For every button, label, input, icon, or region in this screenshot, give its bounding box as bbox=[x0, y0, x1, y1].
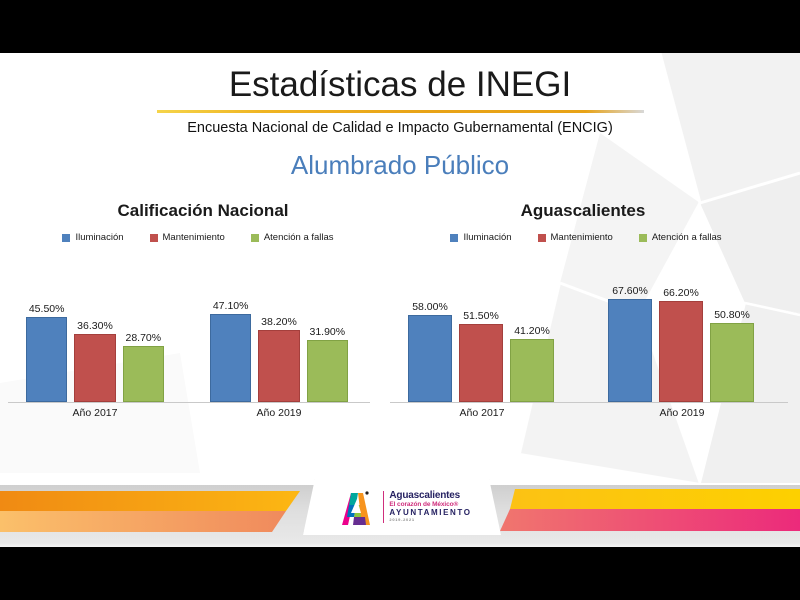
category-label-holder: Año 2019 bbox=[608, 403, 756, 417]
bar-iluminacion[interactable]: 58.00% bbox=[408, 315, 452, 402]
legend-swatch-icon bbox=[450, 234, 458, 242]
bar-value-label: 50.80% bbox=[714, 309, 750, 321]
legend-label: Mantenimiento bbox=[163, 232, 225, 243]
bar-value-label: 67.60% bbox=[612, 285, 648, 297]
bar-atencion-a-fallas[interactable]: 28.70% bbox=[123, 346, 164, 402]
bar-iluminacion[interactable]: 47.10% bbox=[210, 314, 251, 402]
bar-mantenimiento[interactable]: 66.20% bbox=[659, 301, 703, 402]
category-label: Año 2017 bbox=[408, 407, 556, 419]
category-label-holder: Año 2017 bbox=[408, 403, 556, 417]
aguascalientes-a-logo-icon bbox=[332, 487, 376, 527]
legend-item-iluminacion: Iluminación bbox=[450, 232, 511, 243]
section-heading: Alumbrado Público bbox=[0, 150, 800, 181]
bar-group: 47.10% 38.20% 31.90% bbox=[210, 292, 348, 402]
bar-value-label: 47.10% bbox=[213, 300, 249, 312]
letterbox-bottom bbox=[0, 547, 800, 600]
category-label: Año 2019 bbox=[608, 407, 756, 419]
slide-footer: Aguascalientes El corazón de México® AYU… bbox=[0, 485, 800, 547]
bar-atencion-a-fallas[interactable]: 31.90% bbox=[307, 340, 348, 402]
slide-viewer: Estadísticas de INEGI Encuesta Nacional … bbox=[0, 0, 800, 600]
footer-hairline bbox=[0, 543, 800, 547]
bar-group: 45.50% 36.30% 28.70% bbox=[26, 298, 164, 402]
bar-iluminacion[interactable]: 45.50% bbox=[26, 317, 67, 402]
legend-label: Mantenimiento bbox=[551, 232, 613, 243]
bar-value-label: 41.20% bbox=[514, 325, 550, 337]
legend-swatch-icon bbox=[62, 234, 70, 242]
legend-swatch-icon bbox=[150, 234, 158, 242]
category-label: Año 2017 bbox=[26, 407, 164, 419]
legend-label: Atención a fallas bbox=[264, 232, 334, 243]
chart-aguascalientes: Aguascalientes Iluminación Mantenimiento… bbox=[380, 201, 800, 431]
category-label: Año 2019 bbox=[210, 407, 348, 419]
chart-legend: Iluminación Mantenimiento Atención a fal… bbox=[372, 232, 800, 243]
bar-value-label: 31.90% bbox=[310, 326, 346, 338]
presentation-slide: Estadísticas de INEGI Encuesta Nacional … bbox=[0, 53, 800, 547]
chart-calificacion-nacional: Calificación Nacional Iluminación Manten… bbox=[0, 201, 380, 431]
logo-line-aguascalientes: Aguascalientes bbox=[389, 491, 471, 502]
chart-title: Calificación Nacional bbox=[26, 201, 380, 221]
legend-swatch-icon bbox=[251, 234, 259, 242]
letterbox-top bbox=[0, 0, 800, 53]
legend-item-iluminacion: Iluminación bbox=[62, 232, 123, 243]
legend-label: Iluminación bbox=[75, 232, 123, 243]
bar-atencion-a-fallas[interactable]: 41.20% bbox=[510, 339, 554, 402]
logo-line-tagline: El corazón de México® bbox=[389, 501, 471, 508]
bar-atencion-a-fallas[interactable]: 50.80% bbox=[710, 323, 754, 402]
slide-subtitle: Encuesta Nacional de Calidad e Impacto G… bbox=[0, 120, 800, 136]
logo-wordmark: Aguascalientes El corazón de México® AYU… bbox=[383, 491, 471, 523]
bar-group: 58.00% 51.50% 41.20% bbox=[408, 292, 556, 402]
title-underline-rule bbox=[157, 110, 644, 113]
bar-value-label: 51.50% bbox=[463, 310, 499, 322]
legend-label: Iluminación bbox=[463, 232, 511, 243]
chart-title: Aguascalientes bbox=[366, 201, 800, 221]
bar-value-label: 36.30% bbox=[77, 320, 113, 332]
legend-item-mantenimiento: Mantenimiento bbox=[150, 232, 225, 243]
chart-legend: Iluminación Mantenimiento Atención a fal… bbox=[16, 232, 380, 243]
legend-item-atencion-a-fallas: Atención a fallas bbox=[639, 232, 722, 243]
bar-value-label: 66.20% bbox=[663, 287, 699, 299]
bar-mantenimiento[interactable]: 51.50% bbox=[459, 324, 503, 402]
category-label-holder: Año 2017 bbox=[26, 403, 164, 417]
page-title: Estadísticas de INEGI bbox=[0, 67, 800, 104]
legend-swatch-icon bbox=[538, 234, 546, 242]
bar-value-label: 58.00% bbox=[412, 301, 448, 313]
bar-value-label: 38.20% bbox=[261, 316, 297, 328]
plot-area: 58.00% 51.50% 41.20% Año 2017 bbox=[380, 297, 800, 417]
plot-area: 45.50% 36.30% 28.70% Año 2017 bbox=[0, 297, 380, 417]
legend-item-atencion-a-fallas: Atención a fallas bbox=[251, 232, 334, 243]
municipal-logo-plate: Aguascalientes El corazón de México® AYU… bbox=[303, 479, 501, 535]
bar-iluminacion[interactable]: 67.60% bbox=[608, 299, 652, 402]
category-label-holder: Año 2019 bbox=[210, 403, 348, 417]
bar-value-label: 28.70% bbox=[126, 332, 162, 344]
legend-label: Atención a fallas bbox=[652, 232, 722, 243]
bar-value-label: 45.50% bbox=[29, 303, 65, 315]
bar-group: 67.60% 66.20% 50.80% bbox=[608, 292, 756, 402]
bar-mantenimiento[interactable]: 36.30% bbox=[74, 334, 115, 402]
slide-header: Estadísticas de INEGI Encuesta Nacional … bbox=[0, 53, 800, 181]
legend-item-mantenimiento: Mantenimiento bbox=[538, 232, 613, 243]
legend-swatch-icon bbox=[639, 234, 647, 242]
logo-line-period: 2019-2021 bbox=[389, 518, 471, 523]
bar-mantenimiento[interactable]: 38.20% bbox=[258, 330, 299, 402]
